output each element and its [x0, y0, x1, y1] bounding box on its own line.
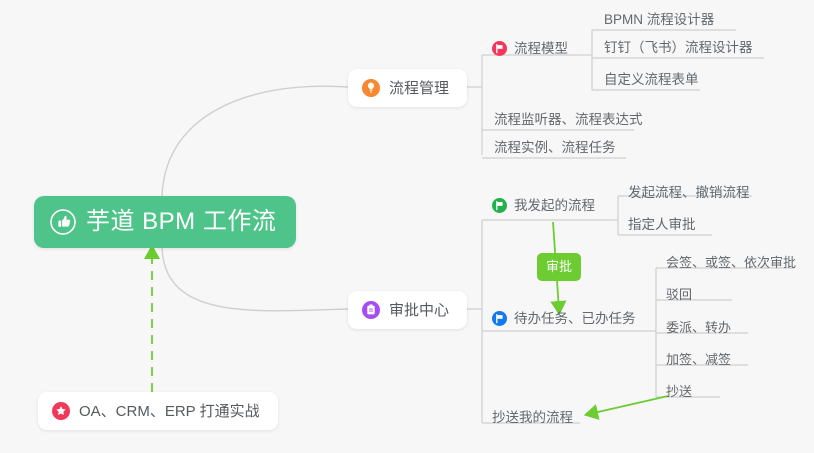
node-label-cc-to-me: 抄送我的流程 — [492, 411, 573, 425]
thumbs-up-icon — [50, 209, 76, 235]
star-icon — [52, 402, 70, 420]
flag-icon-red — [492, 41, 507, 56]
node-label-dingtalk-designer: 钉钉（飞书）流程设计器 — [604, 41, 753, 55]
root-node[interactable]: 芋道 BPM 工作流 — [34, 196, 296, 248]
clipboard-icon — [362, 301, 380, 319]
flow-arrow-cc — [589, 396, 668, 414]
node-label-process-listener: 流程监听器、流程表达式 — [494, 113, 643, 127]
flag-icon-green — [492, 198, 507, 213]
node-label-add-remove-sign: 加签、减签 — [666, 353, 731, 366]
node-label-custom-form: 自定义流程表单 — [604, 73, 699, 87]
node-start-cancel-process[interactable]: 发起流程、撤销流程 — [624, 186, 756, 205]
node-label-process-model: 流程模型 — [514, 42, 568, 56]
node-add-remove-sign[interactable]: 加签、减签 — [662, 353, 737, 371]
node-label-start-cancel-process: 发起流程、撤销流程 — [628, 186, 750, 200]
branch-label-process-management: 流程管理 — [389, 81, 449, 96]
node-label-assignee-approval: 指定人审批 — [628, 218, 696, 232]
node-cc-to-me[interactable]: 抄送我的流程 — [488, 411, 579, 430]
node-label-reject: 驳回 — [666, 288, 692, 301]
branch-label-approval-center: 审批中心 — [389, 303, 449, 318]
node-process-instance[interactable]: 流程实例、流程任务 — [490, 141, 622, 160]
node-delegate-transfer[interactable]: 委派、转办 — [662, 321, 737, 339]
node-label-my-initiated: 我发起的流程 — [514, 199, 595, 213]
lightbulb-icon — [362, 79, 380, 97]
node-carbon-copy[interactable]: 抄送 — [662, 385, 698, 403]
branch-node-approval-center[interactable]: 审批中心 — [348, 291, 467, 329]
link-root-to-approval-center — [162, 244, 348, 311]
node-label-delegate-transfer: 委派、转办 — [666, 321, 731, 334]
node-label-bpmn-designer: BPMN 流程设计器 — [604, 13, 714, 27]
node-todo-done-tasks[interactable]: 待办任务、已办任务 — [488, 311, 642, 331]
node-reject[interactable]: 驳回 — [662, 288, 698, 306]
node-bpmn-designer[interactable]: BPMN 流程设计器 — [600, 13, 720, 32]
mindmap-canvas[interactable]: 芋道 BPM 工作流 流程管理 流程模型 BPMN 流程设计器 钉钉（飞书）流 — [0, 0, 814, 453]
node-process-model[interactable]: 流程模型 — [488, 41, 574, 61]
floating-node-integration-practice[interactable]: OA、CRM、ERP 打通实战 — [38, 392, 278, 430]
flag-icon-blue — [492, 311, 507, 326]
branch-node-process-management[interactable]: 流程管理 — [348, 69, 467, 107]
node-label-countersign: 会签、或签、依次审批 — [666, 256, 796, 269]
floating-node-label-integration-practice: OA、CRM、ERP 打通实战 — [79, 404, 260, 419]
node-label-process-instance: 流程实例、流程任务 — [494, 141, 616, 155]
node-countersign[interactable]: 会签、或签、依次审批 — [662, 256, 802, 274]
node-label-todo-done-tasks: 待办任务、已办任务 — [514, 312, 636, 326]
node-assignee-approval[interactable]: 指定人审批 — [624, 218, 702, 237]
node-label-carbon-copy: 抄送 — [666, 385, 692, 398]
node-process-listener[interactable]: 流程监听器、流程表达式 — [490, 113, 649, 132]
flow-label-approve: 审批 — [537, 253, 581, 281]
link-root-to-process-management — [162, 86, 348, 200]
node-my-initiated[interactable]: 我发起的流程 — [488, 198, 601, 218]
root-node-label: 芋道 BPM 工作流 — [86, 210, 276, 234]
node-dingtalk-designer[interactable]: 钉钉（飞书）流程设计器 — [600, 41, 759, 60]
node-custom-form[interactable]: 自定义流程表单 — [600, 73, 705, 92]
